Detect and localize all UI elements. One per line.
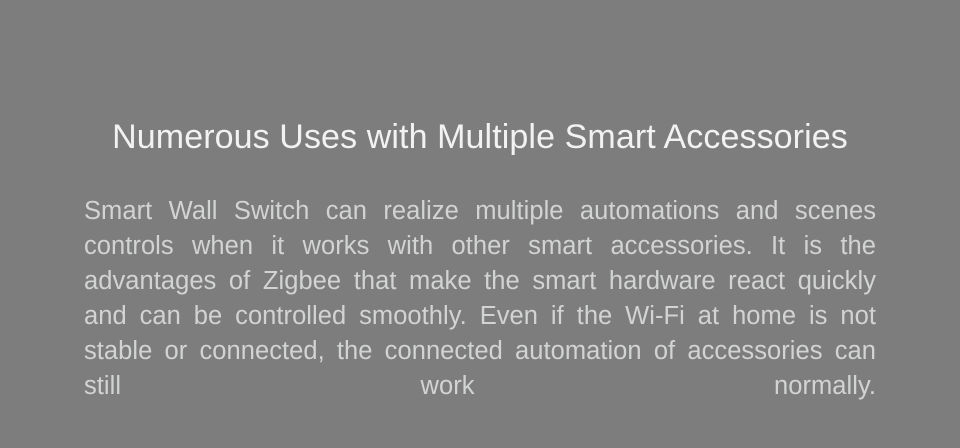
page-title: Numerous Uses with Multiple Smart Access…: [0, 115, 960, 159]
promo-description-paragraph: Smart Wall Switch can realize multiple a…: [84, 194, 876, 439]
promo-panel: Numerous Uses with Multiple Smart Access…: [0, 0, 960, 448]
